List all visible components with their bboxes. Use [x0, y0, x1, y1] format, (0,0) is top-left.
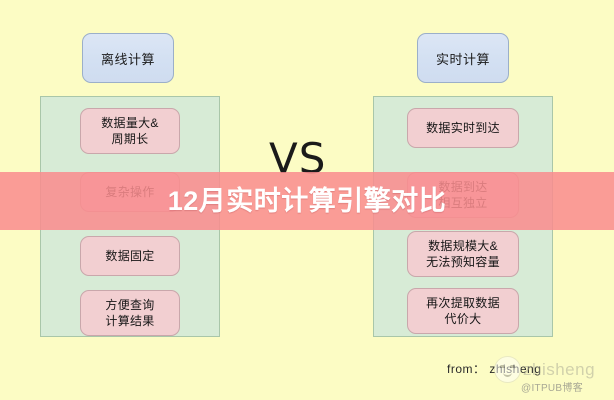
- attribute-label: 再次提取数据代价大: [426, 295, 500, 327]
- attribute-label: 数据量大&周期长: [101, 115, 159, 147]
- attribute-label: 复杂操作: [105, 184, 154, 200]
- column-header-realtime-label: 实时计算: [436, 49, 490, 68]
- attribute-label: 方便查询计算结果: [105, 297, 154, 329]
- column-header-realtime: 实时计算: [417, 33, 509, 83]
- attribute-box-offline-1: 数据量大&周期长: [80, 108, 180, 154]
- watermark-label: zhisheng: [523, 361, 595, 378]
- attribute-label: 数据规模大&无法预知容量: [426, 238, 500, 270]
- cat-face-mouth-icon: [503, 371, 512, 377]
- attribute-box-offline-3: 数据固定: [80, 236, 180, 276]
- comparison-infographic: 离线计算 实时计算 数据量大&周期长 复杂操作 数据固定 方便查询计算结果 数据…: [0, 0, 614, 400]
- watermark-source-label: @ITPUB博客: [521, 379, 583, 394]
- attribute-label: 数据到达相互独立: [438, 179, 487, 211]
- attribute-box-offline-2: 复杂操作: [80, 172, 180, 212]
- versus-label: VS: [269, 138, 326, 180]
- attribute-box-realtime-1: 数据实时到达: [407, 108, 519, 148]
- attribute-box-offline-4: 方便查询计算结果: [80, 290, 180, 336]
- cat-face-icon: [494, 356, 521, 383]
- column-header-offline: 离线计算: [82, 33, 174, 83]
- attribute-box-realtime-4: 再次提取数据代价大: [407, 288, 519, 334]
- column-header-offline-label: 离线计算: [101, 49, 155, 68]
- attribute-box-realtime-2: 数据到达相互独立: [407, 172, 519, 218]
- attribute-box-realtime-3: 数据规模大&无法预知容量: [407, 231, 519, 277]
- attribute-label: 数据实时到达: [426, 120, 500, 136]
- attribute-label: 数据固定: [105, 248, 154, 264]
